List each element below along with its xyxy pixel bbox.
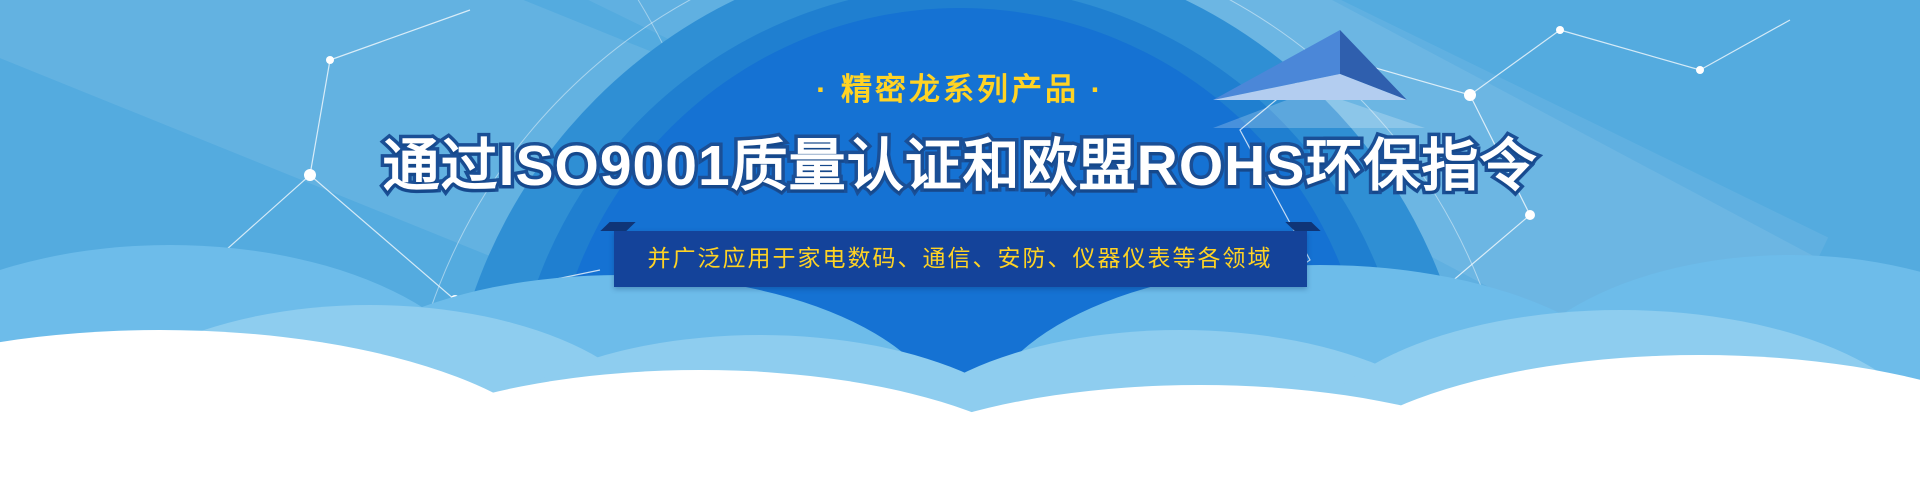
banner-caption: 并广泛应用于家电数码、通信、安防、仪器仪表等各领域 [614, 231, 1307, 287]
banner-content: · 精密龙系列产品 · 通过ISO9001质量认证和欧盟ROHS环保指令 并广泛… [0, 0, 1920, 287]
banner-headline: 通过ISO9001质量认证和欧盟ROHS环保指令 [0, 137, 1920, 197]
banner-eyebrow: · 精密龙系列产品 · [0, 74, 1920, 105]
hero-banner: · 精密龙系列产品 · 通过ISO9001质量认证和欧盟ROHS环保指令 并广泛… [0, 0, 1920, 480]
banner-caption-wrapper: 并广泛应用于家电数码、通信、安防、仪器仪表等各领域 [0, 231, 1920, 287]
